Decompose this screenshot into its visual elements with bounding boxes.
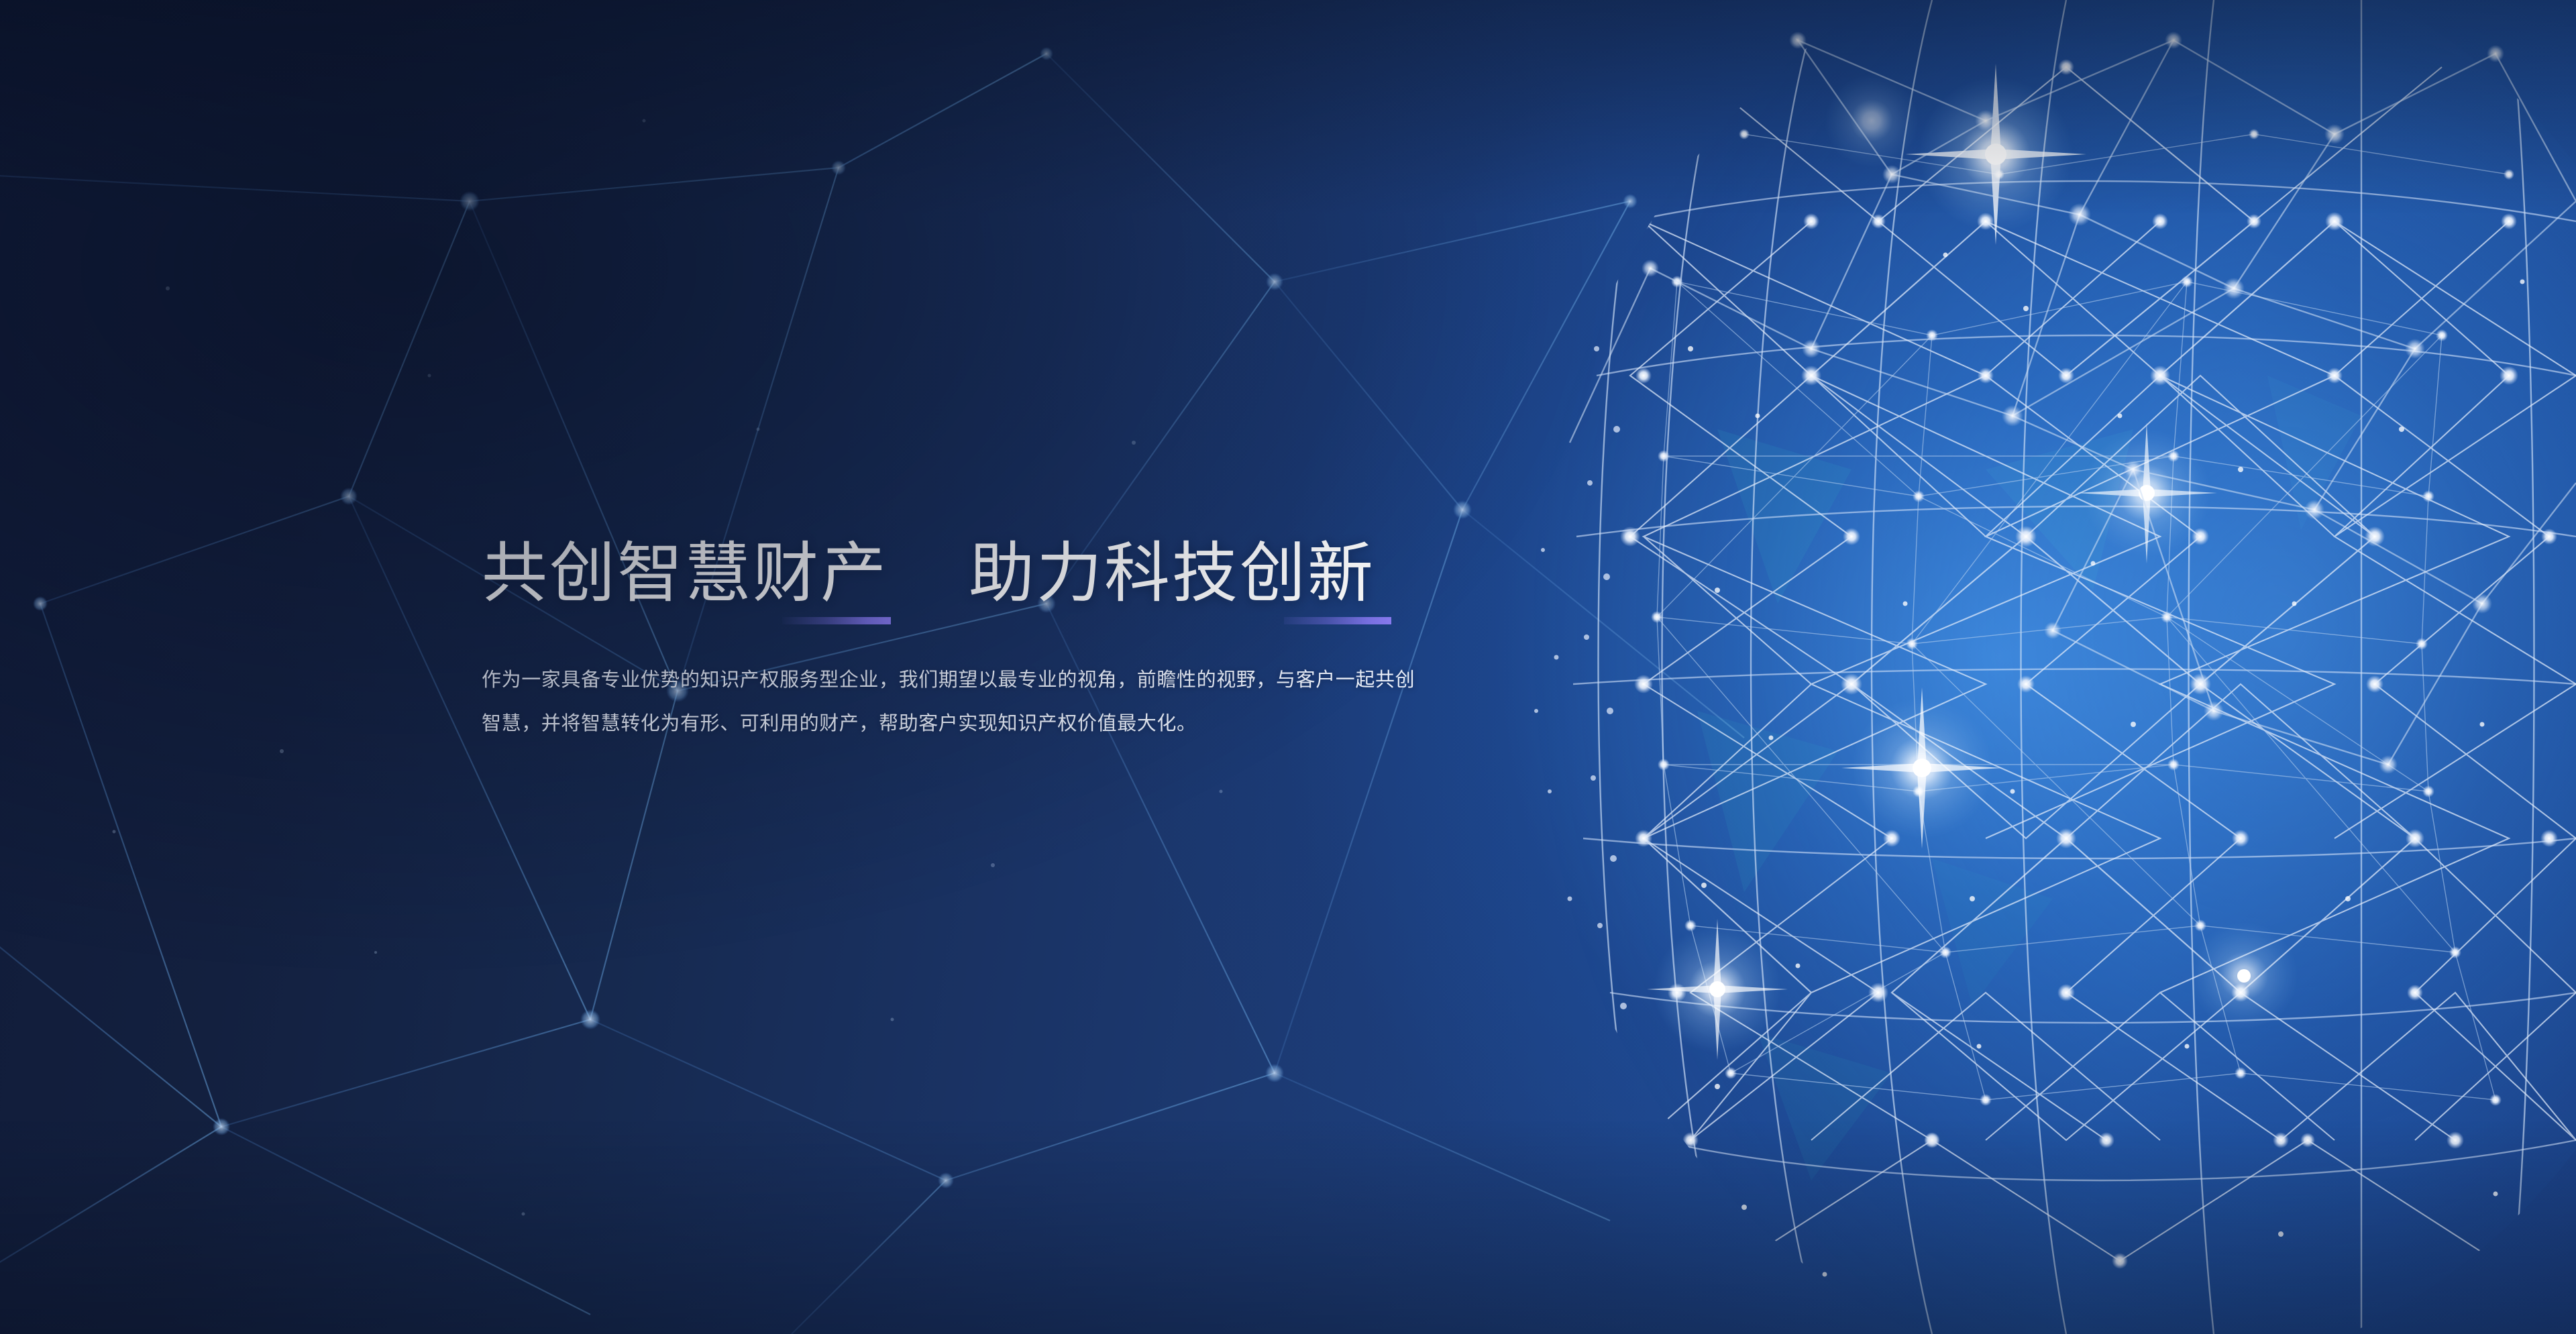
headline-phrase-1: 共创智慧财产 — [482, 536, 888, 610]
headline-phrase-2: 助力科技创新 — [969, 536, 1375, 610]
hero-content: 共创智慧财产助力科技创新 作为一家具备专业优势的知识产权服务型企业，我们期望以最… — [482, 537, 1434, 765]
page-title: 共创智慧财产助力科技创新 — [482, 537, 1434, 610]
headline-underline-bar-1 — [782, 617, 891, 624]
hero-banner: 共创智慧财产助力科技创新 作为一家具备专业优势的知识产权服务型企业，我们期望以最… — [0, 0, 2576, 1334]
headline-underline-group — [482, 617, 1434, 626]
headline-underline-bar-2 — [1284, 617, 1391, 624]
hero-description: 作为一家具备专业优势的知识产权服务型企业，我们期望以最专业的视角，前瞻性的视野，… — [482, 659, 1424, 746]
